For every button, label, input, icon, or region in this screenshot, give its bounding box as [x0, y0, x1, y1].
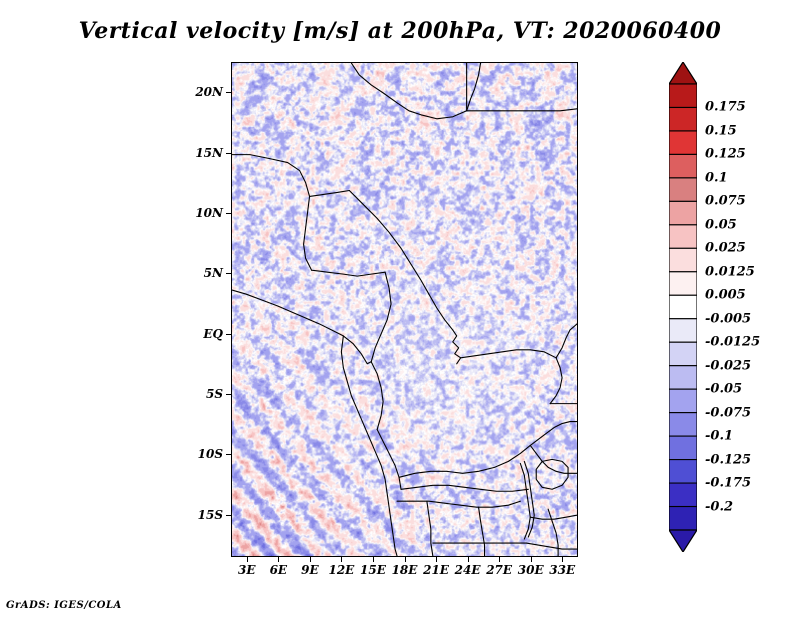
- y-tick: [226, 454, 231, 455]
- colorbar-tick-label: 0.075: [705, 194, 746, 209]
- y-tick: [226, 273, 231, 274]
- x-tick-label: 21E: [423, 563, 449, 577]
- x-tick-label: 24E: [455, 563, 481, 577]
- y-tick-label: 10N: [195, 206, 223, 220]
- colorbar-tick-label: -0.0125: [705, 335, 760, 350]
- y-tick-label: 15S: [198, 508, 223, 522]
- country-boundaries-overlay: [232, 63, 577, 556]
- y-tick-label: 10S: [198, 447, 223, 461]
- y-tick: [226, 394, 231, 395]
- y-tick-label: EQ: [203, 327, 223, 341]
- colorbar-tick-label: 0.15: [705, 123, 737, 138]
- colorbar-tick-label: 0.0125: [705, 264, 755, 279]
- x-tick: [247, 557, 248, 562]
- y-tick-label: 5S: [206, 387, 223, 401]
- x-tick-label: 18E: [392, 563, 418, 577]
- x-tick: [373, 557, 374, 562]
- x-tick-label: 9E: [301, 563, 319, 577]
- plot-area: [231, 62, 578, 557]
- y-tick: [226, 92, 231, 93]
- x-tick-label: 3E: [238, 563, 256, 577]
- colorbar-tick-label: 0.025: [705, 241, 746, 256]
- x-tick-label: 30E: [518, 563, 544, 577]
- colorbar-tick-label: 0.1: [705, 170, 728, 185]
- y-tick: [226, 515, 231, 516]
- x-tick-label: 15E: [360, 563, 386, 577]
- colorbar-tick-label: 0.125: [705, 147, 746, 162]
- y-tick: [226, 153, 231, 154]
- colorbar-tick-label: -0.125: [705, 452, 751, 467]
- colorbar-tick-label: 0.05: [705, 217, 737, 232]
- x-tick: [310, 557, 311, 562]
- colorbar-tick-label: -0.075: [705, 405, 751, 420]
- x-tick: [341, 557, 342, 562]
- x-tick: [405, 557, 406, 562]
- y-tick-label: 5N: [204, 266, 223, 280]
- colorbar-tick-label: -0.025: [705, 358, 751, 373]
- y-axis: 20N15N10N5NEQ5S10S15S: [0, 0, 223, 618]
- x-tick-label: 27E: [486, 563, 512, 577]
- colorbar-tick-label: -0.005: [705, 311, 751, 326]
- colorbar-labels: 0.1750.150.1250.10.0750.050.0250.01250.0…: [669, 62, 789, 552]
- x-tick: [562, 557, 563, 562]
- x-tick-label: 12E: [328, 563, 354, 577]
- y-tick: [226, 213, 231, 214]
- x-tick: [436, 557, 437, 562]
- colorbar-tick-label: -0.175: [705, 476, 751, 491]
- y-tick-label: 20N: [195, 85, 223, 99]
- colorbar-tick-label: -0.2: [705, 499, 733, 514]
- x-tick: [468, 557, 469, 562]
- colorbar-tick-label: 0.005: [705, 288, 746, 303]
- grads-credit: GrADS: IGES/COLA: [6, 600, 122, 611]
- y-tick: [226, 334, 231, 335]
- x-tick-label: 33E: [549, 563, 575, 577]
- y-tick-label: 15N: [195, 146, 223, 160]
- x-tick: [278, 557, 279, 562]
- x-tick: [531, 557, 532, 562]
- colorbar-tick-label: -0.05: [705, 382, 742, 397]
- x-tick-label: 6E: [270, 563, 288, 577]
- colorbar-tick-label: 0.175: [705, 100, 746, 115]
- colorbar-tick-label: -0.1: [705, 429, 733, 444]
- x-tick: [499, 557, 500, 562]
